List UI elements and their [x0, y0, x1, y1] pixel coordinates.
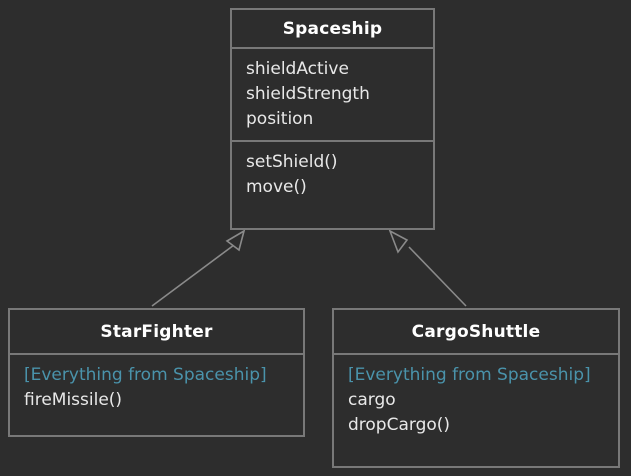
class-name-starfighter: StarFighter	[10, 310, 303, 355]
inheritance-arrow-cargoshuttle-to-spaceship	[390, 231, 466, 306]
method-row: move()	[246, 175, 433, 200]
class-name-spaceship: Spaceship	[232, 10, 433, 49]
method-row: fireMissile()	[24, 388, 303, 413]
method-row: dropCargo()	[348, 413, 618, 438]
attribute-row: shieldActive	[246, 57, 433, 82]
uml-diagram-canvas: Spaceship shieldActive shieldStrength po…	[0, 0, 631, 476]
attributes-compartment-spaceship: shieldActive shieldStrength position	[232, 49, 433, 140]
members-compartment-cargoshuttle: [Everything from Spaceship] cargo dropCa…	[334, 355, 618, 446]
class-name-cargoshuttle: CargoShuttle	[334, 310, 618, 355]
attribute-row: cargo	[348, 388, 618, 413]
members-compartment-starfighter: [Everything from Spaceship] fireMissile(…	[10, 355, 303, 421]
inherited-members-row: [Everything from Spaceship]	[348, 363, 618, 388]
uml-class-starfighter[interactable]: StarFighter [Everything from Spaceship] …	[8, 308, 305, 437]
uml-class-cargoshuttle[interactable]: CargoShuttle [Everything from Spaceship]…	[332, 308, 620, 468]
method-row: setShield()	[246, 150, 433, 175]
inherited-members-row: [Everything from Spaceship]	[24, 363, 303, 388]
inheritance-arrow-starfighter-to-spaceship	[152, 231, 244, 306]
methods-compartment-spaceship: setShield() move()	[232, 140, 433, 208]
attribute-row: position	[246, 107, 433, 132]
uml-class-spaceship[interactable]: Spaceship shieldActive shieldStrength po…	[230, 8, 435, 230]
attribute-row: shieldStrength	[246, 82, 433, 107]
